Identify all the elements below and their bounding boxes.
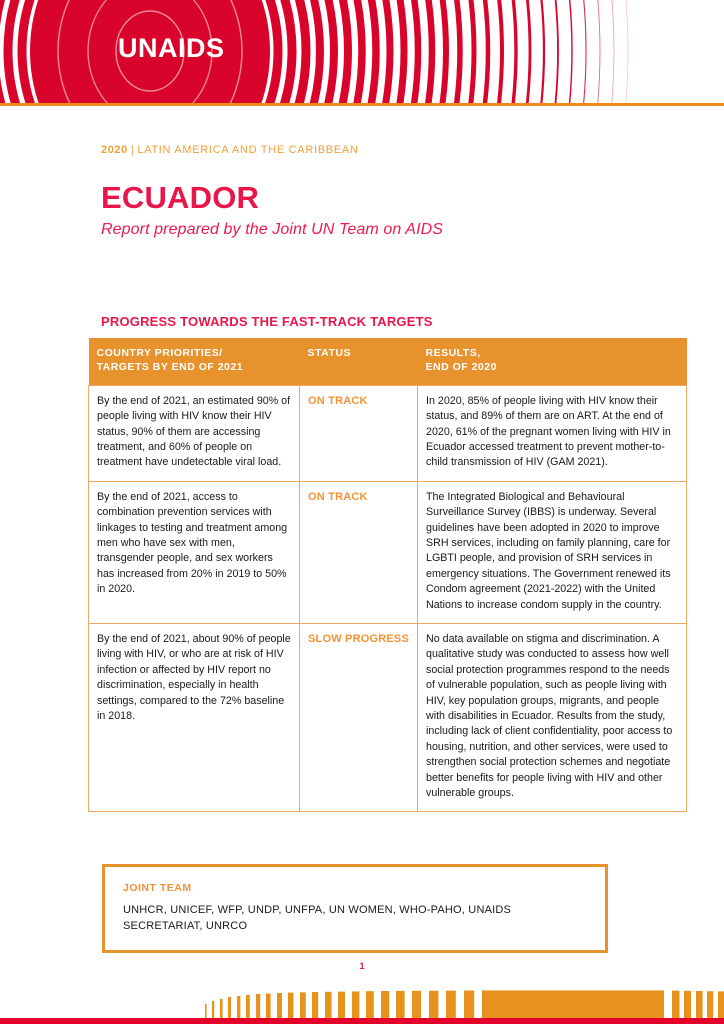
progress-table: COUNTRY PRIORITIES/ TARGETS BY END OF 20… xyxy=(88,338,687,812)
report-subtitle: Report prepared by the Joint UN Team on … xyxy=(101,221,443,239)
joint-team-title: JOINT TEAM xyxy=(123,882,587,894)
footer-red-bar xyxy=(0,1018,724,1024)
report-kicker: 2020|LATIN AMERICA AND THE CARIBBEAN xyxy=(101,144,359,156)
table-row: By the end of 2021, access to combinatio… xyxy=(89,481,687,623)
results-cell: In 2020, 85% of people living with HIV k… xyxy=(418,385,687,481)
results-cell: The Integrated Biological and Behavioura… xyxy=(418,481,687,623)
unaids-ring-pattern xyxy=(0,0,724,103)
column-header-results: RESULTS, END OF 2020 xyxy=(418,338,687,385)
status-badge: SLOW PROGRESS xyxy=(300,624,418,812)
page-title: ECUADOR xyxy=(101,180,259,216)
joint-team-members: UNHCR, UNICEF, WFP, UNDP, UNFPA, UN WOME… xyxy=(123,903,587,934)
table-row: By the end of 2021, an estimated 90% of … xyxy=(89,385,687,481)
table-header-row: COUNTRY PRIORITIES/ TARGETS BY END OF 20… xyxy=(89,338,687,385)
results-cell: No data available on stigma and discrimi… xyxy=(418,624,687,812)
status-badge: ON TRACK xyxy=(300,481,418,623)
joint-team-box: JOINT TEAM UNHCR, UNICEF, WFP, UNDP, UNF… xyxy=(102,864,608,953)
table-row: By the end of 2021, about 90% of people … xyxy=(89,624,687,812)
priority-cell: By the end of 2021, an estimated 90% of … xyxy=(89,385,300,481)
report-region: LATIN AMERICA AND THE CARIBBEAN xyxy=(137,144,358,156)
column-header-priorities: COUNTRY PRIORITIES/ TARGETS BY END OF 20… xyxy=(89,338,300,385)
header-orange-rule xyxy=(0,103,724,106)
unaids-logo: UNAIDS xyxy=(118,33,225,64)
status-badge: ON TRACK xyxy=(300,385,418,481)
column-header-status: STATUS xyxy=(300,338,418,385)
priority-cell: By the end of 2021, access to combinatio… xyxy=(89,481,300,623)
column-header-results-line2: END OF 2020 xyxy=(426,361,497,373)
section-heading: PROGRESS TOWARDS THE FAST-TRACK TARGETS xyxy=(101,314,433,329)
footer-stripe-pattern xyxy=(0,978,724,1018)
page-number: 1 xyxy=(0,961,724,971)
column-header-results-line1: RESULTS, xyxy=(426,347,481,359)
priority-cell: By the end of 2021, about 90% of people … xyxy=(89,624,300,812)
column-header-priorities-line1: COUNTRY PRIORITIES/ xyxy=(97,347,223,359)
footer-stripes-svg xyxy=(0,978,724,1018)
page-header-band: UNAIDS xyxy=(0,0,724,103)
report-year: 2020 xyxy=(101,144,128,156)
kicker-separator: | xyxy=(128,144,137,156)
column-header-priorities-line2: TARGETS BY END OF 2021 xyxy=(97,361,244,373)
